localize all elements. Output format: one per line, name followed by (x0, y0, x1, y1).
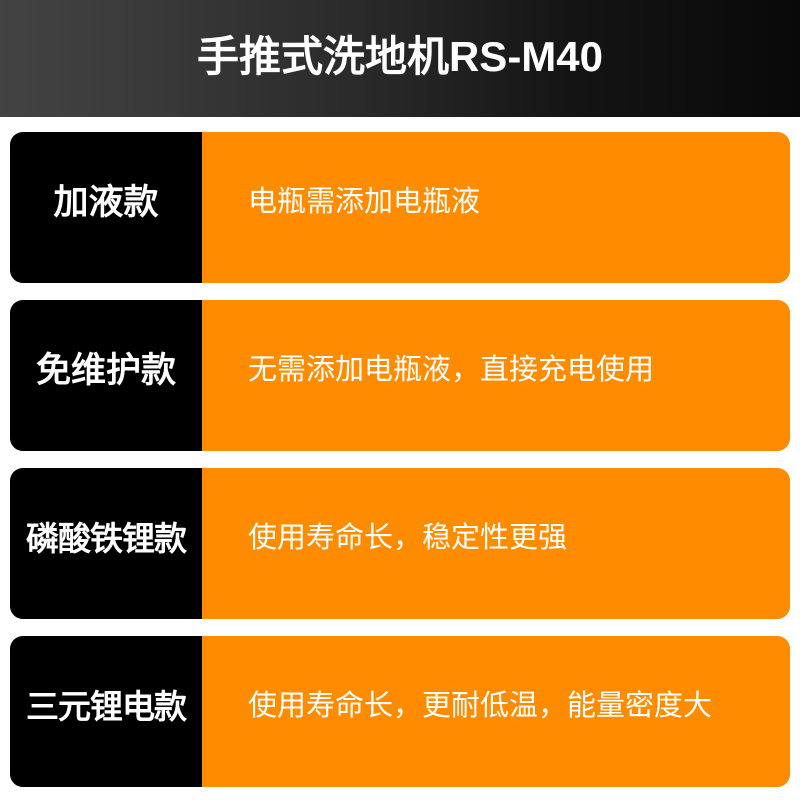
list-item[interactable]: 三元锂电款 使用寿命长，更耐低温，能量密度大 (10, 636, 790, 787)
option-description-panel: 使用寿命长，更耐低温，能量密度大 (202, 636, 790, 787)
option-label-text: 三元锂电款 (26, 690, 186, 723)
list-item[interactable]: 磷酸铁锂款 使用寿命长，稳定性更强 (10, 468, 790, 619)
option-label-panel: 磷酸铁锂款 (10, 468, 202, 619)
option-description-text: 电瓶需添加电瓶液 (248, 188, 480, 217)
option-label-text: 加液款 (53, 185, 158, 220)
option-description-panel: 电瓶需添加电瓶液 (202, 132, 790, 283)
header-banner: 手推式洗地机RS-M40 (0, 0, 800, 117)
option-label-panel: 三元锂电款 (10, 636, 202, 787)
battery-option-list: 加液款 电瓶需添加电瓶液 免维护款 无需添加电瓶液，直接充电使用 磷酸铁锂款 使… (10, 132, 790, 787)
option-label-panel: 免维护款 (10, 300, 202, 451)
option-label-panel: 加液款 (10, 132, 202, 283)
option-description-text: 无需添加电瓶液，直接充电使用 (248, 356, 654, 385)
option-description-panel: 使用寿命长，稳定性更强 (202, 468, 790, 619)
option-description-text: 使用寿命长，更耐低温，能量密度大 (248, 692, 712, 721)
product-spec-infographic: 手推式洗地机RS-M40 加液款 电瓶需添加电瓶液 免维护款 无需添加电瓶液，直… (0, 0, 800, 800)
option-label-text: 磷酸铁锂款 (26, 522, 186, 555)
option-description-panel: 无需添加电瓶液，直接充电使用 (202, 300, 790, 451)
page-title: 手推式洗地机RS-M40 (197, 36, 603, 82)
option-label-text: 免维护款 (36, 353, 176, 388)
list-item[interactable]: 免维护款 无需添加电瓶液，直接充电使用 (10, 300, 790, 451)
option-description-text: 使用寿命长，稳定性更强 (248, 524, 567, 553)
list-item[interactable]: 加液款 电瓶需添加电瓶液 (10, 132, 790, 283)
